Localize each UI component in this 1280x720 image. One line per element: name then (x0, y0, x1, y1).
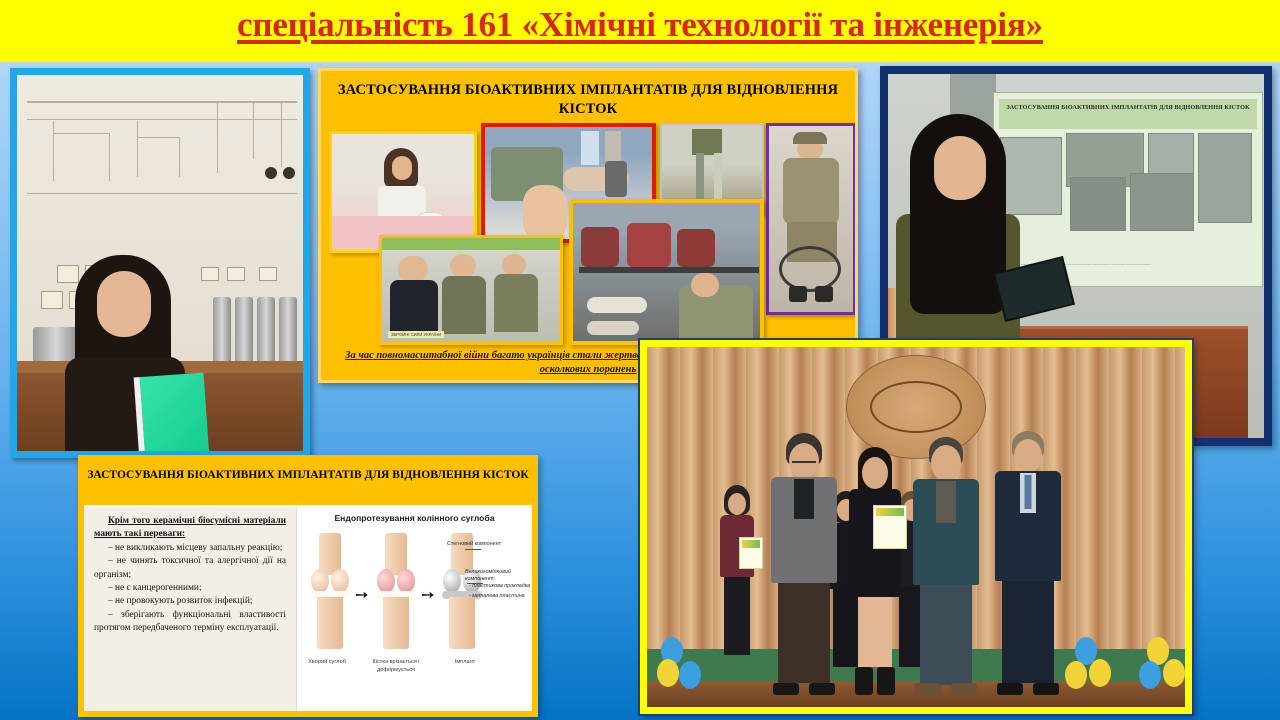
balloon-yellow (1089, 659, 1111, 687)
stage-label: Кістка врізається і деформується (363, 659, 429, 674)
knee-stage-diseased (307, 533, 353, 653)
balloon-blue (679, 661, 701, 689)
slide-panel-bioactive-implants-bottom: ЗАСТОСУВАННЯ БІОАКТИВНИХ ІМПЛАНТАТІВ ДЛЯ… (78, 455, 538, 717)
presenter-face (934, 136, 986, 200)
advantage-item: – зберігають функціональні властивості п… (94, 609, 286, 636)
balloon-yellow (1163, 659, 1185, 687)
callout-tibial-component: Великогомілковий компонент: (465, 569, 532, 583)
projection-screen: ЗАСТОСУВАННЯ БІОАКТИВНИХ ІМПЛАНТАТІВ ДЛЯ… (993, 92, 1263, 287)
person-man-dark-suit (991, 431, 1065, 695)
person-man-grey-suit (767, 433, 841, 695)
advantage-item: – не чинять токсичної та алергічної дії … (94, 555, 286, 582)
knee-stage-deformed (373, 533, 419, 653)
panel-heading: ЗАСТОСУВАННЯ БІОАКТИВНИХ ІМПЛАНТАТІВ ДЛЯ… (331, 81, 845, 119)
balloon-blue (1139, 661, 1161, 689)
balloon-yellow (657, 659, 679, 687)
stage-label: Імплант (437, 659, 493, 667)
callout-metal-plate: - металева пластина (469, 593, 532, 600)
diagram-title: Ендопротезування колінного суглоба (297, 513, 532, 523)
knee-arthroplasty-diagram: Ендопротезування колінного суглоба ➙ ➙ (296, 507, 532, 711)
person-background (715, 485, 759, 655)
person-student-with-certificate (843, 447, 907, 695)
photo-award-ceremony-on-stage (640, 340, 1192, 714)
page-title: спеціальність 161 «Хімічні технології та… (0, 3, 1280, 47)
photo-rehabilitation-gym (569, 199, 764, 345)
slide-panel-bioactive-implants-top: ЗАСТОСУВАННЯ БІОАКТИВНИХ ІМПЛАНТАТІВ ДЛЯ… (318, 68, 858, 383)
advantages-text-block: Крім того керамічні біосумісні матеріали… (84, 507, 296, 711)
advantage-item: – не провокують розвиток інфекцій; (94, 595, 286, 608)
person-man-teal-jacket (909, 437, 983, 695)
photo-wounded-soldiers-interview: ЗБРОЙНІ СИЛИ УКРАЇНИ (379, 235, 563, 345)
advantages-lead: Крім того керамічні біосумісні матеріали… (94, 515, 286, 542)
balloon-yellow (1065, 661, 1087, 689)
photo-student-in-chemistry-lab (10, 68, 310, 458)
screen-collage (1000, 133, 1256, 260)
advantage-item: – не є канцерогенними; (94, 582, 286, 595)
panel-heading: ЗАСТОСУВАННЯ БІОАКТИВНИХ ІМПЛАНТАТІВ ДЛЯ… (84, 461, 532, 505)
advantage-item: – не викликають місцеву запальну реакцію… (94, 542, 286, 555)
photo-collage: ЗБРОЙНІ СИЛИ УКРАЇНИ (329, 123, 847, 338)
screen-heading: ЗАСТОСУВАННЯ БІОАКТИВНИХ ІМПЛАНТАТІВ ДЛЯ… (999, 99, 1257, 129)
callout-femoral-component: Стегновий компонент (447, 541, 532, 548)
stage-label: Хворий суглоб (299, 659, 355, 667)
student-face (97, 271, 151, 337)
callout-plastic-insert: - пластикова прокладка (469, 583, 532, 590)
green-folder (134, 373, 211, 458)
arrow-icon: ➙ (421, 585, 434, 605)
arrow-icon: ➙ (355, 585, 368, 605)
presentation-slide: спеціальність 161 «Хімічні технології та… (0, 0, 1280, 720)
photo-overlay-caption: ЗБРОЙНІ СИЛИ УКРАЇНИ (388, 331, 444, 338)
photo-soldier-in-wheelchair (766, 123, 856, 315)
